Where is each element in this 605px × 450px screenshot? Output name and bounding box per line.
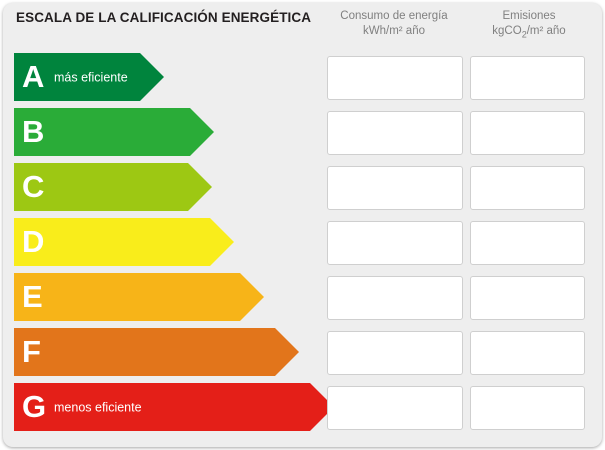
emissions-value-cell[interactable]: [470, 56, 585, 100]
consumption-value-cell[interactable]: [327, 331, 463, 375]
consumption-value-cell[interactable]: [327, 386, 463, 430]
column-header-consumption-line1: Consumo de energía: [322, 9, 466, 24]
emissions-value-cell[interactable]: [470, 276, 585, 320]
bar-body: [14, 328, 275, 376]
rating-bar-g: Gmenos eficiente: [14, 383, 334, 431]
rating-bar-a: Amás eficiente: [14, 53, 164, 101]
consumption-value-cell[interactable]: [327, 221, 463, 265]
rating-row: B: [0, 108, 605, 156]
rating-letter: E: [22, 281, 43, 312]
rating-letter: A: [22, 61, 44, 92]
rating-row: F: [0, 328, 605, 376]
rating-letter: D: [22, 226, 44, 257]
emissions-value-cell[interactable]: [470, 386, 585, 430]
rating-letter: F: [22, 336, 41, 367]
bar-body: [14, 273, 240, 321]
consumption-value-cell[interactable]: [327, 56, 463, 100]
rating-note: menos eficiente: [54, 401, 142, 414]
rating-bar-b: B: [14, 108, 214, 156]
rating-bar-f: F: [14, 328, 299, 376]
emissions-value-cell[interactable]: [470, 166, 585, 210]
emissions-unit-pre: kgCO: [492, 25, 521, 37]
bar-arrow: [140, 53, 164, 101]
rating-row: C: [0, 163, 605, 211]
rating-letter: G: [22, 391, 46, 422]
rating-note: más eficiente: [54, 71, 128, 84]
rating-bar-d: D: [14, 218, 234, 266]
consumption-value-cell[interactable]: [327, 276, 463, 320]
emissions-value-cell[interactable]: [470, 221, 585, 265]
emissions-value-cell[interactable]: [470, 111, 585, 155]
consumption-value-cell[interactable]: [327, 111, 463, 155]
rating-bar-c: C: [14, 163, 212, 211]
bar-arrow: [188, 163, 212, 211]
bar-arrow: [240, 273, 264, 321]
column-header-consumption: Consumo de energía kWh/m² año: [322, 9, 466, 39]
emissions-value-cell[interactable]: [470, 331, 585, 375]
emissions-unit-post: /m² año: [527, 25, 566, 37]
page-title: ESCALA DE LA CALIFICACIÓN ENERGÉTICA: [16, 10, 311, 25]
column-header-consumption-line2: kWh/m² año: [322, 24, 466, 39]
bar-arrow: [190, 108, 214, 156]
bar-arrow: [275, 328, 299, 376]
rating-letter: C: [22, 171, 44, 202]
rating-row: E: [0, 273, 605, 321]
rating-row: D: [0, 218, 605, 266]
consumption-value-cell[interactable]: [327, 166, 463, 210]
bar-arrow: [210, 218, 234, 266]
column-header-emissions-line1: Emisiones: [470, 9, 588, 24]
column-header-emissions-line2: kgCO2/m² año: [470, 24, 588, 42]
rating-row: Amás eficiente: [0, 53, 605, 101]
rating-letter: B: [22, 116, 44, 147]
rating-bar-e: E: [14, 273, 264, 321]
rating-row: Gmenos eficiente: [0, 383, 605, 431]
energy-rating-scale: ESCALA DE LA CALIFICACIÓN ENERGÉTICA Con…: [0, 0, 605, 450]
column-header-emissions: Emisiones kgCO2/m² año: [470, 9, 588, 42]
